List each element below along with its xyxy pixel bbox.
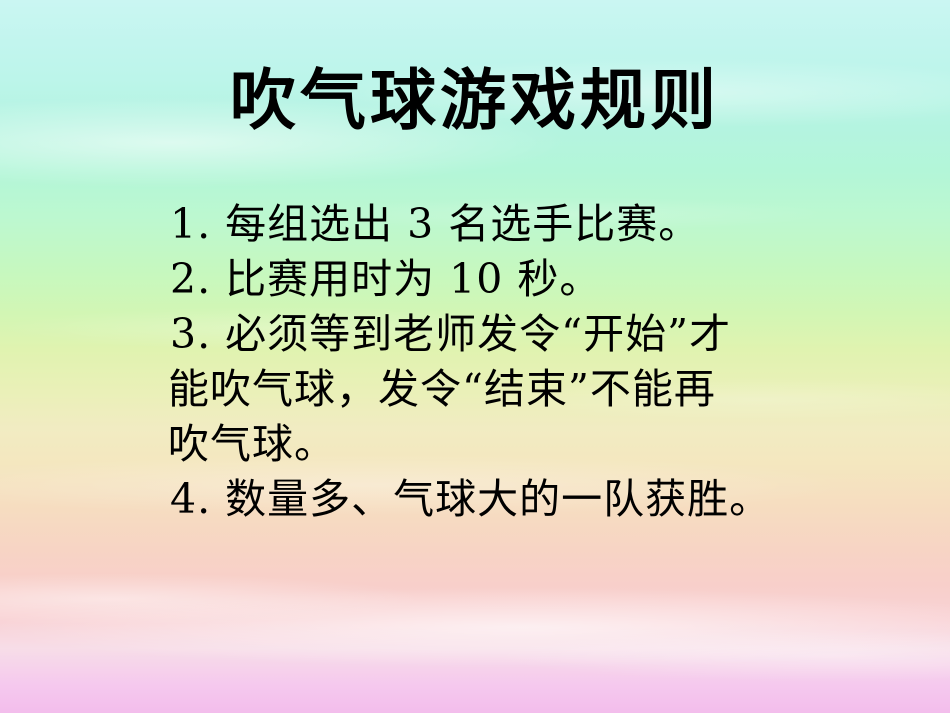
rule-line-3-cont-a: 能吹气球，发令“结束”不能再 (168, 362, 870, 417)
rule-line-1: 1. 每组选出 3 名选手比赛。 (170, 197, 870, 252)
rule-line-3-cont-b: 吹气球。 (168, 417, 870, 472)
slide-canvas: 吹气球游戏规则 1. 每组选出 3 名选手比赛。 2. 比赛用时为 10 秒。 … (0, 0, 950, 713)
rules-list: 1. 每组选出 3 名选手比赛。 2. 比赛用时为 10 秒。 3. 必须等到老… (170, 197, 870, 527)
rule-line-4: 4. 数量多、气球大的一队获胜。 (170, 472, 870, 527)
rule-line-2: 2. 比赛用时为 10 秒。 (170, 252, 870, 307)
slide-title: 吹气球游戏规则 (0, 64, 950, 138)
rule-line-3: 3. 必须等到老师发令“开始”才 (170, 307, 870, 362)
